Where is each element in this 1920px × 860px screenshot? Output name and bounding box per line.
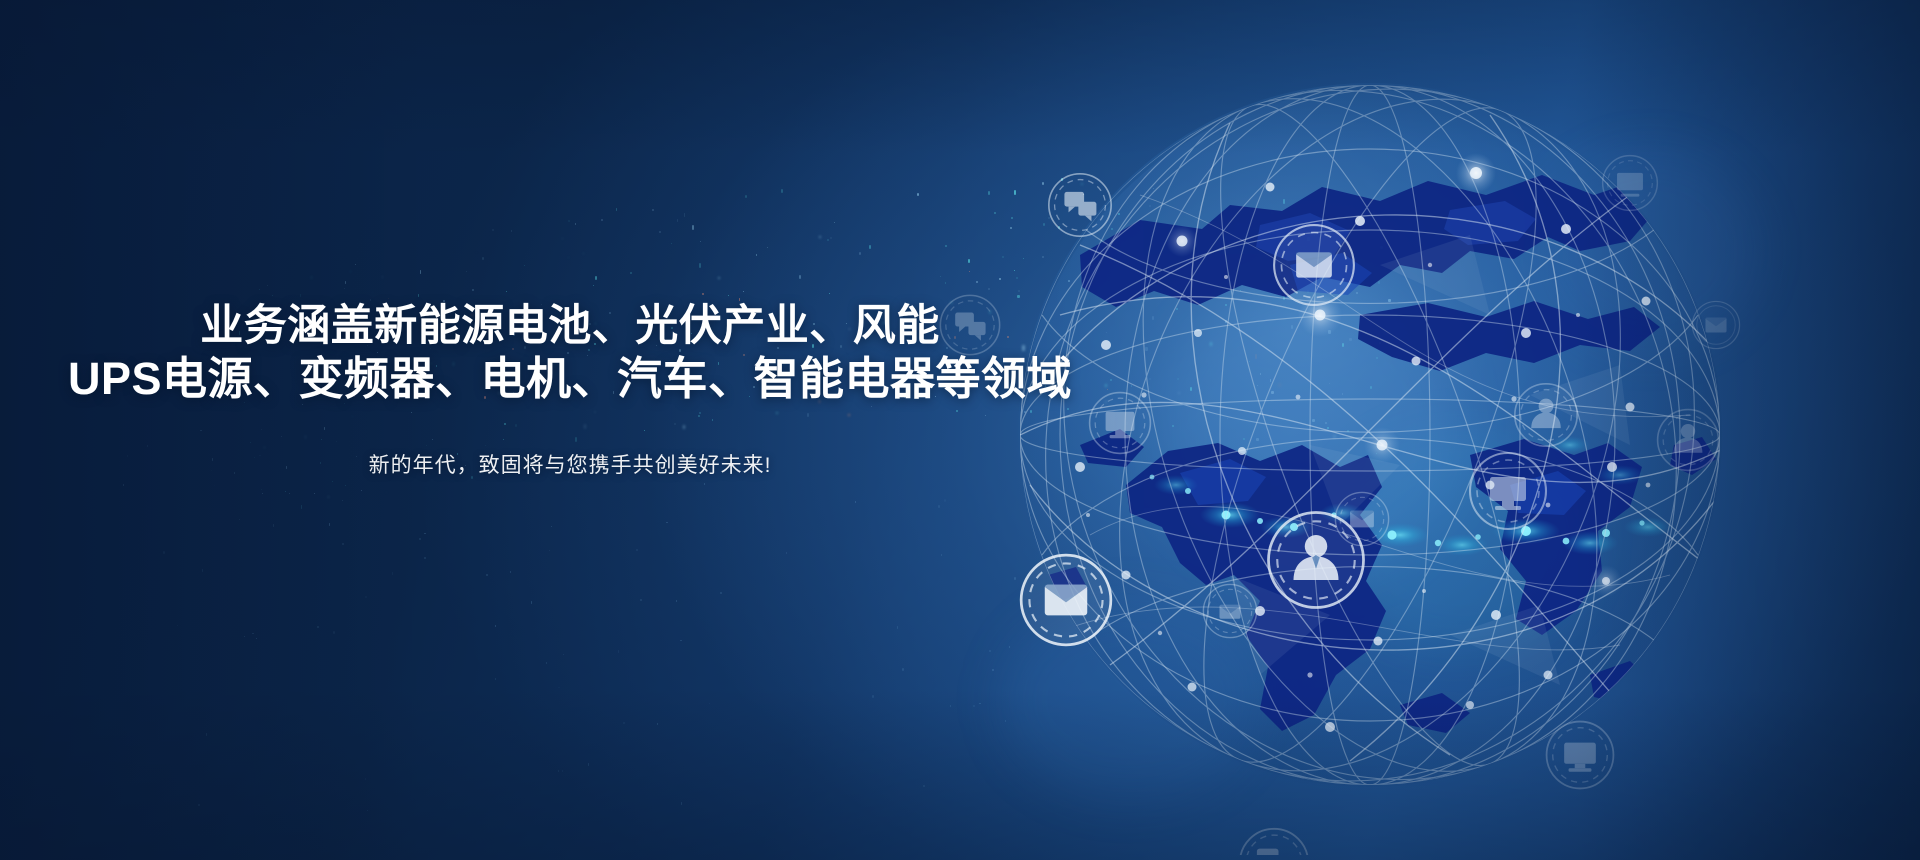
particle-dot	[988, 288, 990, 290]
particle-dot	[944, 499, 946, 502]
particle-dot	[1249, 361, 1250, 362]
particle-dot	[968, 259, 970, 263]
particle-dot	[262, 493, 263, 494]
particle-dot	[252, 633, 254, 634]
particle-dot	[1200, 295, 1202, 297]
particle-dot	[681, 802, 682, 805]
particle-dot	[1048, 217, 1050, 219]
particle-dot	[256, 638, 257, 639]
particle-dot	[546, 662, 547, 664]
particle-dot	[1149, 205, 1151, 207]
bokeh-dot	[1086, 263, 1650, 678]
page-title: 业务涵盖新能源电池、光伏产业、风能 UPS电源、变频器、电机、汽车、智能电器等领…	[0, 300, 1140, 407]
particle-dot	[1349, 338, 1352, 341]
city-glow-cluster	[1154, 436, 1672, 556]
chat-bubbles-icon	[1049, 174, 1111, 236]
particle-dot	[342, 500, 343, 501]
particle-dot	[1002, 256, 1004, 258]
particle-dot	[1166, 287, 1167, 288]
particle-dot	[1017, 295, 1020, 298]
particle-dot	[1376, 357, 1378, 359]
particle-dot	[1042, 182, 1044, 185]
particle-dot	[999, 278, 1001, 280]
particle-dot	[575, 223, 576, 225]
particle-dot	[1010, 227, 1012, 229]
particle-dot	[1237, 224, 1238, 225]
particle-dot	[616, 208, 617, 211]
particle-dot	[392, 572, 393, 575]
envelope-icon	[1335, 492, 1388, 545]
particle-dot	[1204, 197, 1205, 198]
particle-dot	[1005, 720, 1006, 722]
particle-dot	[344, 288, 345, 289]
particle-dot	[680, 640, 682, 641]
particle-dot	[1307, 237, 1310, 241]
particle-dot	[618, 650, 619, 653]
particle-dot	[486, 574, 488, 576]
particle-dot	[830, 237, 832, 239]
particle-dot	[367, 810, 368, 811]
particle-dot	[1325, 422, 1327, 424]
particle-dot	[1286, 261, 1288, 266]
businessman-icon	[1658, 410, 1719, 471]
particle-dot	[261, 489, 262, 490]
particle-dot	[361, 490, 362, 491]
particle-dot	[1209, 248, 1211, 250]
particle-dot	[829, 293, 830, 294]
particle-dot	[756, 254, 757, 256]
envelope-icon	[1203, 584, 1256, 637]
particle-dot	[333, 631, 335, 634]
particle-dot	[1378, 281, 1380, 284]
particle-dot	[745, 195, 747, 198]
particle-dot	[692, 225, 694, 230]
particle-dot	[1023, 258, 1024, 259]
particle-dot	[671, 243, 672, 244]
particle-dot	[273, 524, 274, 527]
glow-blob	[1330, 430, 1590, 650]
particle-dot	[506, 291, 507, 292]
particle-dot	[869, 245, 871, 249]
particle-dot	[1271, 211, 1274, 214]
particle-dot	[872, 695, 874, 698]
particle-dot	[492, 229, 494, 231]
particle-dot	[720, 592, 722, 594]
continent-shapes	[1042, 175, 1716, 733]
particle-dot	[702, 293, 704, 295]
monitor-icon	[1603, 156, 1658, 211]
particle-dot	[588, 763, 589, 766]
particle-dot	[1042, 256, 1044, 258]
particle-dot	[365, 596, 367, 598]
particle-dot	[466, 271, 467, 272]
particle-dot	[345, 485, 346, 486]
particle-dot	[424, 557, 426, 559]
particle-dot	[1158, 279, 1160, 281]
particle-dot	[1009, 646, 1010, 648]
particle-dot	[511, 230, 512, 232]
particle-dot	[558, 770, 559, 772]
particle-dot	[1240, 290, 1241, 291]
particle-dot	[1255, 354, 1257, 359]
particle-dot	[365, 778, 366, 780]
particle-dot	[311, 276, 312, 279]
particle-dot	[718, 277, 720, 279]
particle-dot	[1291, 325, 1293, 329]
particle-dot	[923, 785, 925, 787]
particle-dot	[345, 281, 346, 284]
particle-dot	[1342, 393, 1343, 395]
particle-dot	[332, 481, 333, 482]
glow-blob	[1160, 280, 1460, 580]
particle-dot	[1333, 435, 1336, 438]
particle-dot	[568, 257, 569, 258]
envelope-icon	[1274, 225, 1354, 305]
particle-dot	[1314, 235, 1315, 236]
particle-dot	[1270, 379, 1271, 382]
particle-dot	[1347, 430, 1349, 432]
particle-dot	[728, 295, 729, 296]
hero-banner: (function(){ var host=document.currentSc…	[0, 0, 1920, 860]
particle-dot	[289, 493, 290, 494]
particle-dot	[285, 491, 286, 492]
particle-dot	[700, 241, 701, 242]
particle-dot	[1370, 386, 1372, 389]
particle-dot	[676, 600, 677, 602]
particle-dot	[1195, 220, 1196, 221]
particle-dot	[1225, 320, 1227, 323]
particle-dot	[551, 526, 552, 527]
particle-dot	[1371, 387, 1372, 388]
particle-dot	[568, 220, 570, 222]
particle-dot	[495, 625, 496, 627]
particle-dot	[300, 294, 301, 297]
particle-dot	[424, 533, 426, 534]
particle-dot	[1172, 425, 1174, 427]
particle-dot	[1376, 453, 1377, 454]
particle-dot	[562, 238, 563, 239]
particle-dot	[1372, 212, 1375, 217]
particle-dot	[704, 483, 705, 485]
particle-dot	[418, 294, 419, 297]
particle-dot	[1307, 290, 1309, 293]
particle-dot	[244, 636, 245, 637]
particle-dot	[583, 253, 584, 254]
particle-dot	[1068, 280, 1070, 282]
particle-dot	[659, 231, 661, 233]
particle-dot	[945, 282, 946, 284]
particle-dot	[950, 705, 951, 707]
particle-dot	[524, 265, 525, 266]
particle-dot	[640, 599, 642, 601]
particle-dot	[206, 733, 207, 736]
particle-dot	[827, 239, 829, 241]
particle-dot	[531, 601, 532, 604]
particle-dot	[1170, 259, 1171, 260]
particle-dot	[652, 209, 654, 211]
particle-dot	[1166, 274, 1167, 278]
particle-dot	[601, 219, 603, 221]
businessman-icon	[1515, 384, 1577, 446]
particle-dot	[388, 298, 389, 299]
monitor-icon	[1547, 722, 1614, 789]
particle-dot	[1160, 288, 1162, 290]
particle-dot	[1111, 228, 1113, 230]
particle-dot	[1149, 378, 1151, 380]
particle-dot	[355, 264, 356, 265]
particle-dot	[1356, 292, 1358, 294]
particle-dot	[1117, 293, 1119, 295]
particle-dot	[1228, 272, 1230, 277]
banner-copy: 业务涵盖新能源电池、光伏产业、风能 UPS电源、变频器、电机、汽车、智能电器等领…	[0, 300, 1140, 479]
particle-dot	[1260, 373, 1261, 375]
particle-dot	[1227, 418, 1228, 419]
particle-dot	[799, 275, 801, 279]
monitor-icon	[1470, 453, 1546, 529]
particle-dot	[1149, 387, 1150, 388]
particle-dot	[938, 505, 940, 508]
particle-dot	[1143, 259, 1145, 263]
particle-dot	[1151, 269, 1153, 274]
particle-dot	[1153, 188, 1154, 189]
particle-dot	[1081, 183, 1083, 185]
particle-dot	[267, 285, 268, 286]
particle-dot	[636, 549, 638, 551]
particle-dot	[1342, 343, 1344, 347]
particle-dot	[495, 678, 496, 680]
particle-dot	[1384, 331, 1387, 334]
particle-dot	[259, 289, 260, 290]
particle-dot	[1278, 271, 1281, 275]
particle-dot	[1361, 244, 1362, 245]
particle-dot	[1145, 347, 1148, 351]
particle-dot	[1152, 316, 1154, 320]
particle-dot	[1257, 385, 1258, 386]
particle-dot	[1327, 427, 1329, 429]
particle-dot	[859, 252, 861, 255]
particle-dot	[419, 538, 421, 540]
particle-dot	[819, 236, 821, 238]
mesh-facet	[1230, 235, 1630, 685]
particle-dot	[482, 257, 484, 260]
badge-icon-group	[940, 156, 1739, 855]
particle-dot	[549, 550, 550, 551]
particle-dot	[1177, 378, 1179, 380]
glow-blob	[1000, 600, 1260, 800]
particle-dot	[1178, 392, 1180, 394]
envelope-icon	[1021, 555, 1111, 645]
particle-dot	[666, 522, 668, 523]
particle-dot	[426, 488, 427, 489]
particle-dot	[897, 626, 898, 629]
particle-dot	[1368, 458, 1369, 461]
particle-dot	[1388, 299, 1391, 302]
particle-dot	[941, 554, 942, 556]
particle-dot	[1190, 387, 1192, 391]
particle-dot	[1018, 290, 1020, 292]
particle-dot	[969, 271, 970, 272]
headline-line-2: UPS电源、变频器、电机、汽车、智能电器等领域	[68, 353, 1072, 404]
particle-dot	[558, 687, 560, 688]
particle-dot	[476, 252, 477, 253]
particle-dot	[940, 276, 941, 277]
envelope-icon	[1692, 301, 1739, 348]
particle-dot	[917, 193, 919, 196]
particle-dot	[177, 625, 178, 626]
particle-dot	[510, 571, 511, 573]
network-node	[1075, 153, 1651, 732]
particle-dot	[350, 271, 351, 272]
particle-dot	[420, 270, 421, 274]
particle-dot	[1243, 438, 1245, 440]
particle-dot	[1283, 296, 1285, 300]
particle-dot	[1126, 284, 1127, 285]
particle-dot	[563, 654, 564, 655]
businessman-icon	[1269, 513, 1364, 608]
particle-dot	[214, 485, 215, 486]
particle-dot	[1176, 308, 1178, 310]
particle-dot	[1014, 190, 1016, 195]
particle-dot	[1016, 277, 1018, 279]
particle-dot	[1380, 246, 1383, 249]
particle-dot	[781, 189, 783, 193]
particle-dot	[1349, 283, 1351, 285]
particle-dot	[342, 543, 344, 545]
chat-bubbles-icon	[1240, 829, 1308, 855]
particle-dot	[1225, 304, 1227, 306]
particle-dot	[1058, 226, 1060, 229]
headline-line-1: 业务涵盖新能源电池、光伏产业、风能	[200, 302, 940, 350]
particle-dot	[1113, 238, 1114, 239]
city-light-dot	[1150, 475, 1645, 547]
particle-dot	[593, 285, 594, 286]
particle-dot	[1011, 217, 1013, 219]
particle-dot	[1328, 330, 1331, 334]
particle-dot	[163, 551, 165, 554]
particle-dot	[976, 281, 978, 283]
particle-dot	[1043, 223, 1045, 226]
particle-dot	[786, 552, 787, 554]
particle-dot	[902, 668, 904, 671]
particle-dot	[382, 276, 383, 278]
particle-dot	[562, 770, 563, 772]
particle-dot	[1322, 222, 1324, 224]
particle-dot	[834, 222, 835, 223]
particle-dot	[1014, 270, 1015, 271]
particle-dot	[301, 505, 302, 509]
particle-dot	[1083, 194, 1084, 195]
particle-dot	[1061, 178, 1063, 181]
particle-dot	[945, 245, 947, 247]
particle-dot	[743, 291, 744, 292]
particle-dot	[472, 289, 474, 291]
particle-dot	[989, 650, 991, 652]
particle-dot	[994, 212, 996, 214]
particle-dot	[630, 272, 632, 274]
particle-dot	[973, 705, 975, 707]
particle-dot	[1312, 419, 1315, 422]
particle-dot	[329, 523, 330, 526]
particle-dot	[979, 703, 981, 704]
particle-dot	[1347, 449, 1349, 451]
particle-dot	[657, 723, 658, 725]
particle-dot	[1014, 577, 1016, 580]
particle-dot	[1244, 243, 1245, 244]
particle-dot	[372, 292, 373, 293]
particle-dot	[699, 263, 701, 268]
particle-dot	[595, 276, 597, 280]
particle-dot	[1379, 342, 1381, 344]
glow-blob	[1540, 150, 1760, 350]
particle-dot	[314, 493, 315, 494]
particle-dot	[328, 496, 329, 498]
particle-dot	[123, 484, 124, 486]
connection-arc	[1050, 195, 1690, 650]
particle-dot	[992, 669, 994, 671]
particle-dot	[767, 247, 768, 248]
particle-dot	[1332, 399, 1334, 401]
particle-dot	[709, 703, 710, 704]
particle-dot	[1314, 270, 1315, 271]
particle-dot	[1271, 391, 1274, 394]
particle-dot	[1329, 383, 1330, 384]
particle-dot	[202, 569, 203, 572]
particle-dot	[1118, 213, 1120, 215]
particle-dot	[684, 213, 685, 217]
particle-dot	[386, 492, 387, 493]
particle-dot	[317, 626, 319, 628]
particle-dot	[677, 219, 678, 222]
particle-dot	[239, 519, 240, 520]
banner-subtitle: 新的年代，致固将与您携手共创美好未来!	[0, 449, 1140, 479]
particle-dot	[855, 501, 856, 503]
particle-dot	[988, 191, 990, 195]
particle-dot	[1210, 342, 1212, 346]
particle-dot	[623, 722, 625, 724]
particle-dot	[198, 804, 200, 806]
particle-dot	[1283, 199, 1285, 204]
particle-dot	[1278, 383, 1281, 387]
particle-dot	[1256, 438, 1259, 441]
particle-dot	[272, 295, 273, 296]
